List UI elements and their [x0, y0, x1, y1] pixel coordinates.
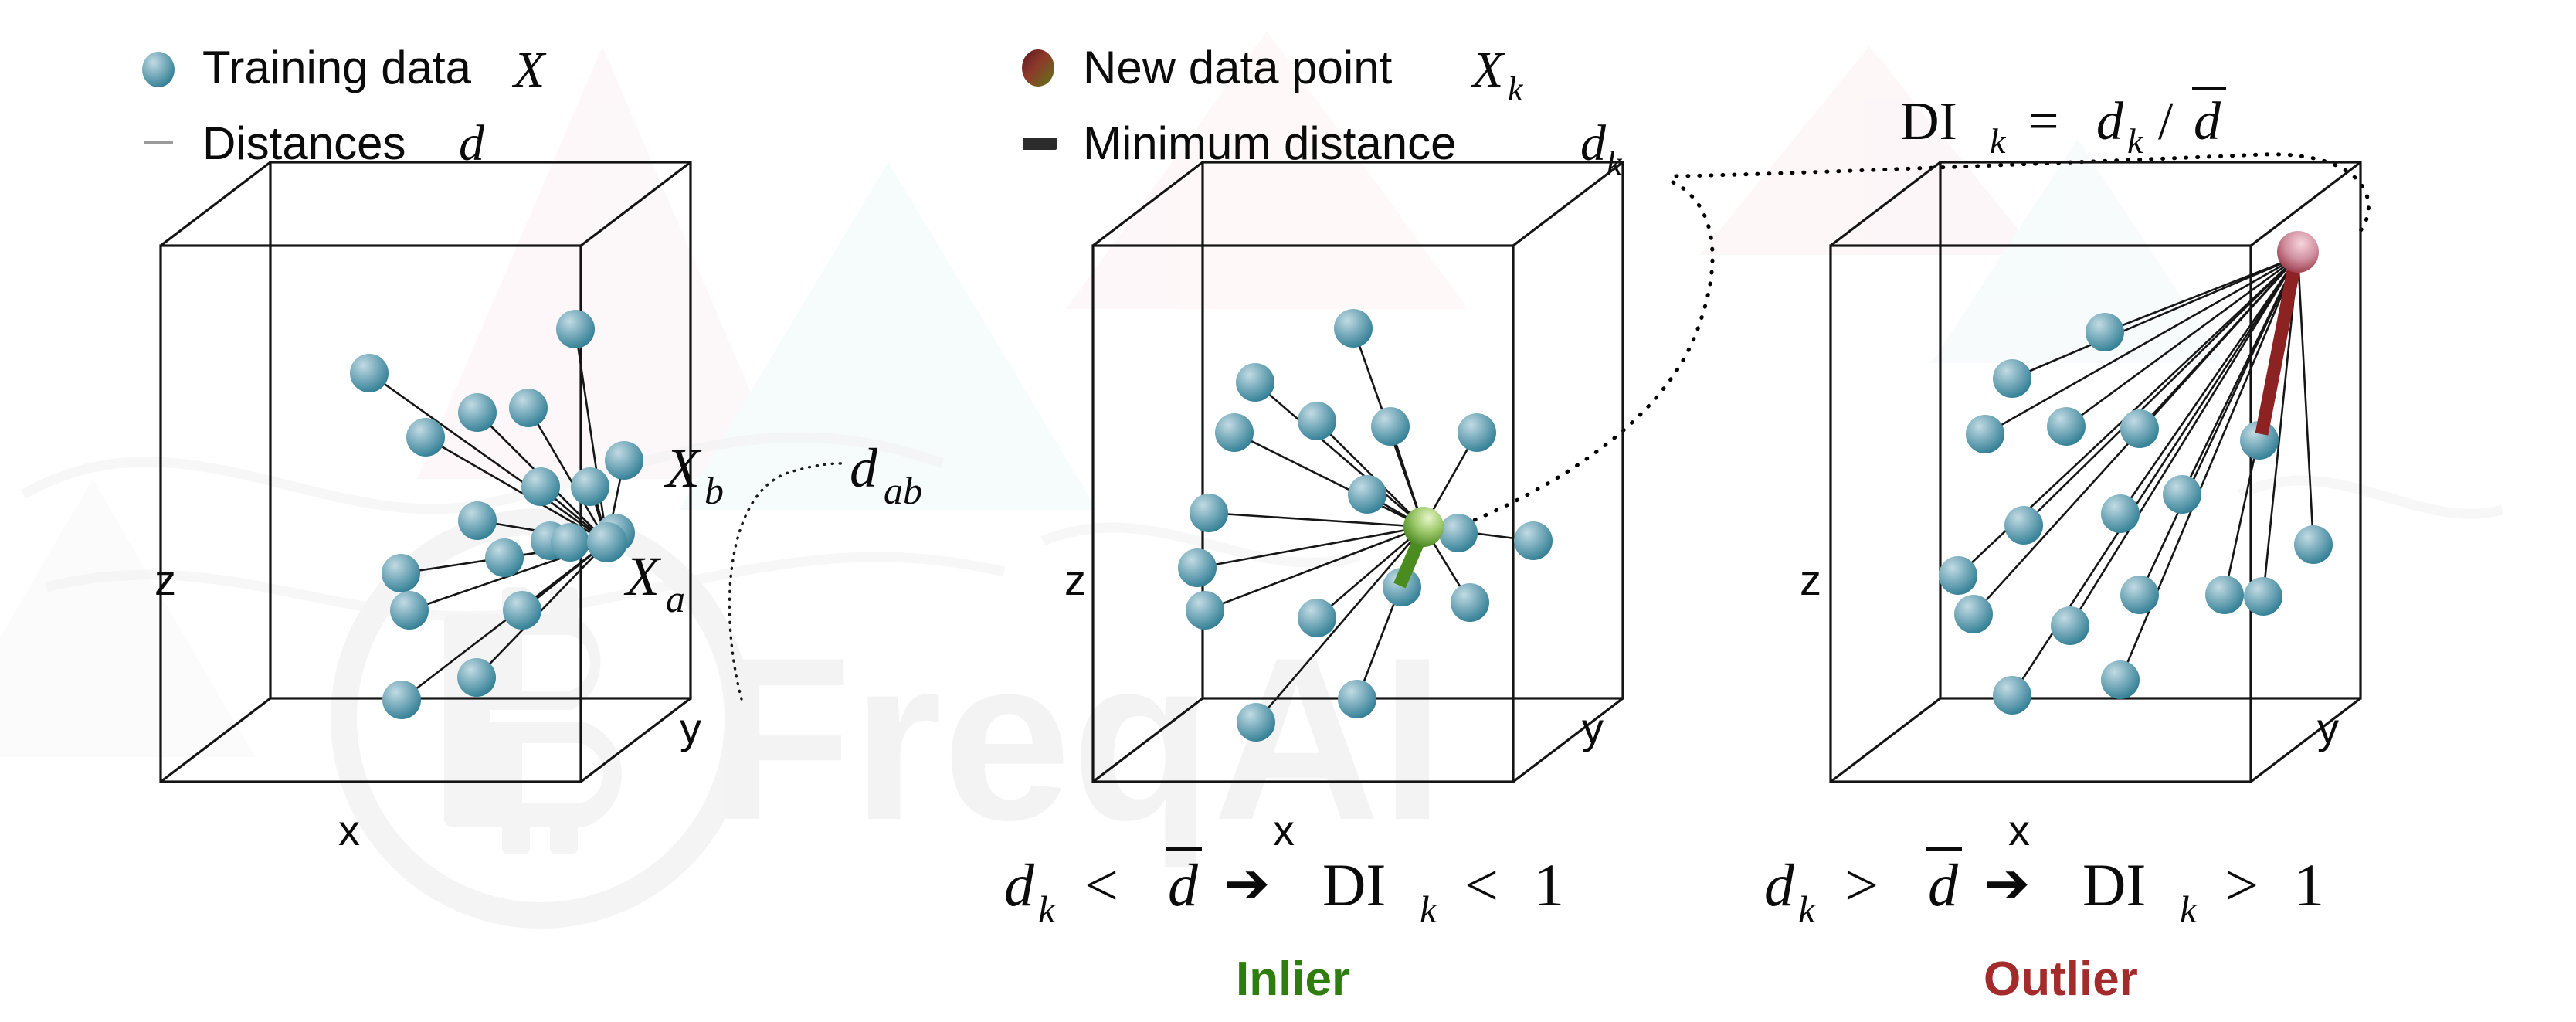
svg-text:a: a — [666, 577, 685, 620]
legend-left: Training data X Distances d — [142, 42, 547, 171]
inlier-formula: d k < d ➔ DI k < 1 Inlier — [1004, 847, 1564, 1006]
leader-dab — [729, 463, 842, 699]
legend-new-point-symbol: X k — [1470, 42, 1524, 108]
svg-text:X: X — [1470, 42, 1505, 98]
svg-text:<: < — [1084, 851, 1118, 918]
training-point — [571, 467, 609, 506]
training-point — [458, 501, 497, 540]
distance-lines-outlier — [1958, 256, 2313, 695]
svg-text:d: d — [2194, 92, 2221, 151]
svg-text:1: 1 — [1534, 851, 1564, 918]
svg-text:DI: DI — [1900, 92, 1957, 151]
training-point — [485, 538, 524, 577]
axis-label-z: z — [154, 555, 176, 604]
training-point — [1186, 591, 1224, 630]
svg-text:DI: DI — [1322, 851, 1386, 918]
distance-lines-training — [369, 329, 624, 700]
d-bar-overline-inlier — [1166, 847, 1202, 851]
training-point — [1439, 514, 1478, 552]
training-point — [1236, 363, 1274, 402]
point-label-xb: X b — [664, 437, 724, 512]
axis-label-x: x — [1273, 806, 1295, 854]
svg-text:d: d — [850, 437, 878, 499]
new-data-point-inlier — [1403, 507, 1444, 547]
di-definition-formula: DI k = d k / d — [1900, 87, 2226, 161]
training-point — [1237, 703, 1275, 742]
training-point — [551, 523, 589, 562]
leader-dk-to-inlier — [1452, 182, 1712, 529]
svg-text:k: k — [2180, 888, 2198, 931]
axis-label-x: x — [338, 806, 360, 854]
training-point — [2101, 660, 2140, 699]
training-point — [350, 354, 389, 392]
training-point — [2047, 407, 2086, 446]
svg-text:d: d — [1928, 851, 1959, 918]
training-point — [2205, 576, 2244, 614]
legend-min-distance-marker-icon — [1023, 138, 1057, 150]
verdict-inlier: Inlier — [1236, 952, 1350, 1006]
training-point — [406, 418, 445, 457]
axis-label-z: z — [1800, 555, 1821, 604]
svg-text:k: k — [1798, 888, 1816, 931]
training-point — [382, 681, 421, 719]
training-point — [1514, 521, 1553, 560]
svg-text:➔: ➔ — [1984, 853, 2030, 915]
training-point — [1298, 402, 1336, 440]
point-label-xa: X a — [623, 545, 685, 620]
svg-text:>: > — [1845, 851, 1879, 918]
svg-text:b: b — [704, 469, 724, 512]
axis-label-y: y — [2317, 704, 2339, 752]
svg-text:➔: ➔ — [1224, 853, 1270, 915]
training-point — [1939, 556, 1977, 595]
legend-training-symbol: X — [511, 42, 547, 98]
training-point — [458, 393, 497, 432]
axis-label-y: y — [1582, 704, 1604, 752]
di-diagram: Training data X Distances d New data poi… — [0, 0, 2576, 1022]
svg-text:>: > — [2225, 851, 2259, 918]
training-point — [2004, 506, 2043, 545]
svg-text:d: d — [1004, 851, 1035, 918]
outlier-panel: z x y — [1800, 162, 2360, 854]
inlier-panel: z x y — [1064, 162, 1623, 854]
training-point — [1298, 599, 1336, 637]
svg-text:<: < — [1464, 851, 1498, 918]
training-point — [2163, 475, 2201, 514]
svg-text:ab: ab — [884, 469, 922, 512]
training-point — [521, 467, 560, 506]
training-point — [1954, 595, 1993, 633]
training-point — [1334, 309, 1373, 348]
svg-text:d: d — [2096, 92, 2124, 151]
legend-new-point-marker-icon — [1022, 49, 1054, 87]
svg-text:1: 1 — [2294, 851, 2324, 918]
callout-dab: d ab — [850, 437, 922, 512]
axis-label-y: y — [680, 704, 701, 752]
training-point — [2051, 606, 2089, 645]
svg-text:X: X — [623, 545, 662, 607]
new-data-point-outlier — [2277, 231, 2319, 273]
legend-min-distance-symbol: d k — [1580, 115, 1623, 182]
training-point — [1371, 407, 1410, 446]
training-point — [2086, 313, 2124, 351]
training-point — [2244, 577, 2282, 616]
training-point — [1966, 415, 2004, 453]
training-point — [2101, 494, 2140, 533]
svg-text:k: k — [1038, 888, 1056, 931]
leader-dk-to-outlier — [1676, 154, 2368, 232]
training-point — [556, 310, 595, 348]
training-point — [1348, 475, 1386, 514]
svg-text:k: k — [1420, 888, 1437, 931]
training-point — [1190, 494, 1228, 532]
training-point — [2120, 576, 2159, 614]
training-point — [382, 554, 420, 592]
legend-new-point-label: New data point — [1083, 42, 1393, 93]
training-point — [1215, 413, 1254, 452]
training-point — [503, 591, 541, 630]
training-point — [1993, 359, 2031, 398]
training-point — [1338, 680, 1376, 718]
outlier-formula: d k > d ➔ DI k > 1 Outlier — [1764, 847, 2324, 1006]
axis-label-z: z — [1064, 555, 1086, 604]
svg-text:X: X — [664, 437, 702, 499]
legend-training-label: Training data — [202, 42, 472, 93]
verdict-outlier: Outlier — [1984, 952, 2138, 1006]
svg-text:/: / — [2158, 92, 2174, 151]
legend-training-marker-icon — [142, 52, 175, 87]
training-data-panel: X b X a d ab z x y — [154, 162, 922, 854]
svg-text:d: d — [1764, 851, 1795, 918]
training-point — [1993, 676, 2031, 715]
training-point — [1178, 548, 1217, 587]
svg-text:k: k — [1508, 70, 1524, 108]
training-point — [457, 658, 496, 697]
d-bar-overline-outlier — [1926, 847, 1962, 851]
legend-distances-marker-icon — [144, 141, 173, 144]
training-point-xa-hub — [587, 522, 627, 562]
svg-text:d: d — [1168, 851, 1199, 918]
training-point — [605, 441, 643, 480]
svg-text:k: k — [2127, 121, 2144, 161]
training-point — [390, 591, 429, 630]
training-point — [1451, 583, 1489, 622]
d-bar-overline — [2192, 87, 2226, 90]
training-point — [2294, 525, 2333, 564]
svg-text:=: = — [2028, 92, 2058, 151]
svg-text:k: k — [1990, 121, 2007, 161]
training-point — [2120, 409, 2159, 448]
training-point — [509, 389, 548, 427]
svg-text:DI: DI — [2082, 851, 2146, 918]
training-point — [1458, 413, 1496, 452]
axis-label-x: x — [2008, 806, 2030, 854]
